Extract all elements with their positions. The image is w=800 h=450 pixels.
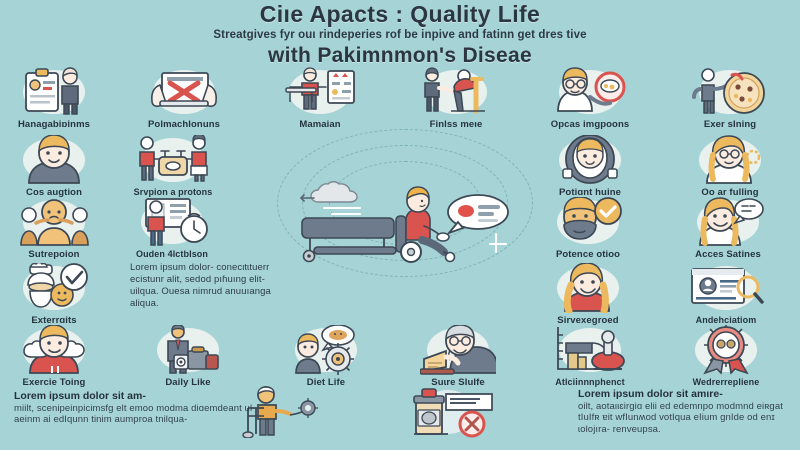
person-desk-board-icon bbox=[281, 66, 359, 118]
icon-cell-r1c3[interactable]: Mamaian bbox=[272, 66, 368, 130]
icon-cell-r6c2[interactable] bbox=[390, 386, 510, 439]
icon-cell-r3c3[interactable]: Potence otioo bbox=[540, 196, 636, 260]
icon-label: Exercie Toing bbox=[6, 377, 102, 388]
icon-cell-r1c6[interactable]: Exer sIning bbox=[682, 66, 778, 130]
id-card-magnifier-icon bbox=[687, 262, 765, 314]
icon-cell-r5c4[interactable]: Suɩre SIuIfe bbox=[410, 324, 506, 388]
woman-long-hair-icon bbox=[549, 262, 627, 314]
couple-table-icon bbox=[134, 134, 212, 186]
icon-label: Polmachlonuns bbox=[136, 119, 232, 130]
award-ribbon-icon bbox=[687, 324, 765, 376]
middle-paragraph: Lorem ipsum dolor- conecιtɩtuerr ecistun… bbox=[130, 262, 280, 310]
chef-checkmark-icon bbox=[15, 262, 93, 314]
icon-cell-r5c1[interactable]: Exercie Toing bbox=[6, 324, 102, 388]
bottom-left-paragraph: Lorem ipsum dolor sit am- miilt, scenipe… bbox=[14, 390, 264, 426]
icon-label: Exer sIning bbox=[682, 119, 778, 130]
title-main-line: Ciıe Apacts : Quality Life bbox=[0, 2, 800, 27]
icon-cell-r3c4[interactable]: Acces Satines bbox=[680, 196, 776, 260]
woman-speech-icon bbox=[689, 196, 767, 248]
icon-label: Acces Satines bbox=[680, 249, 776, 260]
title-subtitle: Streatgives fyr ouι rindeperies rof be i… bbox=[0, 27, 800, 43]
infographic-canvas: Ciıe Apacts : Quality Life Streatgives f… bbox=[0, 0, 800, 450]
child-hood-icon bbox=[551, 134, 629, 186]
person-pizza-icon bbox=[691, 66, 769, 118]
bottom-right-heading: Lorem ipsum dolor sit amιre- bbox=[578, 388, 790, 401]
icon-cell-r3c2[interactable]: Ouden 4lctbIson bbox=[124, 196, 220, 260]
elder-reading-icon bbox=[419, 324, 497, 376]
icon-label: Opcas imgpoons bbox=[542, 119, 638, 130]
bottom-right-body: oilt, aotaιιɛirgiɑ elii ed edemnpo modmn… bbox=[578, 401, 790, 436]
suit-luggage-icon bbox=[149, 324, 227, 376]
center-illustration bbox=[300, 168, 515, 263]
face-portrait-icon bbox=[15, 134, 93, 186]
icon-label: Mamaian bbox=[272, 119, 368, 130]
chart-pill-icon bbox=[551, 324, 629, 376]
family-support-icon bbox=[15, 196, 93, 248]
icon-cell-r5c2[interactable]: Daily Like bbox=[140, 324, 236, 388]
hands-no-screen-icon bbox=[145, 66, 223, 118]
icon-cell-r2c2[interactable]: Srvpion a protons bbox=[125, 134, 221, 198]
bottom-left-body: miilt, scenipeinpicimsfg elt emoo modma … bbox=[14, 403, 264, 426]
icon-label: Finlss meιe bbox=[408, 119, 504, 130]
icon-cell-r5c6[interactable]: Wedrerrepliene bbox=[678, 324, 774, 388]
icon-cell-r5c3[interactable]: Diet Life bbox=[278, 324, 374, 388]
boy-gear-speech-icon bbox=[287, 324, 365, 376]
bottom-left-heading: Lorem ipsum dolor sit am- bbox=[14, 390, 264, 403]
title-second-line: with Pakimnmon's Diseae bbox=[0, 43, 800, 68]
page-title: Ciıe Apacts : Quality Life Streatgives f… bbox=[0, 2, 800, 68]
caregiver-walker-icon bbox=[417, 66, 495, 118]
icon-label: Sutrepoion bbox=[6, 249, 102, 260]
icon-label: Potence otioo bbox=[540, 249, 636, 260]
face-check-mask-icon bbox=[549, 196, 627, 248]
icon-cell-r2c1[interactable]: Cos augtion bbox=[6, 134, 102, 198]
icon-label: Hanagabiɒinms bbox=[6, 119, 102, 130]
icon-cell-r1c1[interactable]: Hanagabiɒinms bbox=[6, 66, 102, 130]
icon-cell-r5c5[interactable]: Atlciіnnnphenct bbox=[542, 324, 638, 388]
middle-paragraph-body: Lorem ipsum dolor- conecιtɩtuerr ecistun… bbox=[130, 262, 280, 310]
icon-cell-r3c1[interactable]: Sutrepoion bbox=[6, 196, 102, 260]
icon-cell-r2c4[interactable]: Oo ar fulling bbox=[682, 134, 778, 198]
icon-cell-r2c3[interactable]: Potiɑnt huine bbox=[542, 134, 638, 198]
icon-label: Atlciіnnnphenct bbox=[542, 377, 638, 388]
pill-bottle-note-icon bbox=[392, 386, 508, 438]
icon-cell-r4c3[interactable]: Andehciatiom bbox=[678, 262, 774, 326]
bottom-right-paragraph: Lorem ipsum dolor sit amιre- oilt, aotaι… bbox=[578, 388, 790, 435]
woman-glasses-icon bbox=[691, 134, 769, 186]
icon-label: Wedrerrepliene bbox=[678, 377, 774, 388]
icon-cell-r1c2[interactable]: Polmachlonuns bbox=[136, 66, 232, 130]
face-glasses-pill-icon bbox=[551, 66, 629, 118]
icon-cell-r1c4[interactable]: Finlss meιe bbox=[408, 66, 504, 130]
boy-cloud-icon bbox=[15, 324, 93, 376]
icon-cell-r4c2[interactable]: Sirvexegroed bbox=[540, 262, 636, 326]
icon-label: Ouden 4lctbIson bbox=[124, 249, 220, 260]
person-chart-clock-icon bbox=[133, 196, 211, 248]
clipboard-person-icon bbox=[15, 66, 93, 118]
icon-cell-r1c5[interactable]: Opcas imgpoons bbox=[542, 66, 638, 130]
icon-cell-r4c1[interactable]: Exterrɑits bbox=[6, 262, 102, 326]
icon-label: Daily Like bbox=[140, 377, 236, 388]
